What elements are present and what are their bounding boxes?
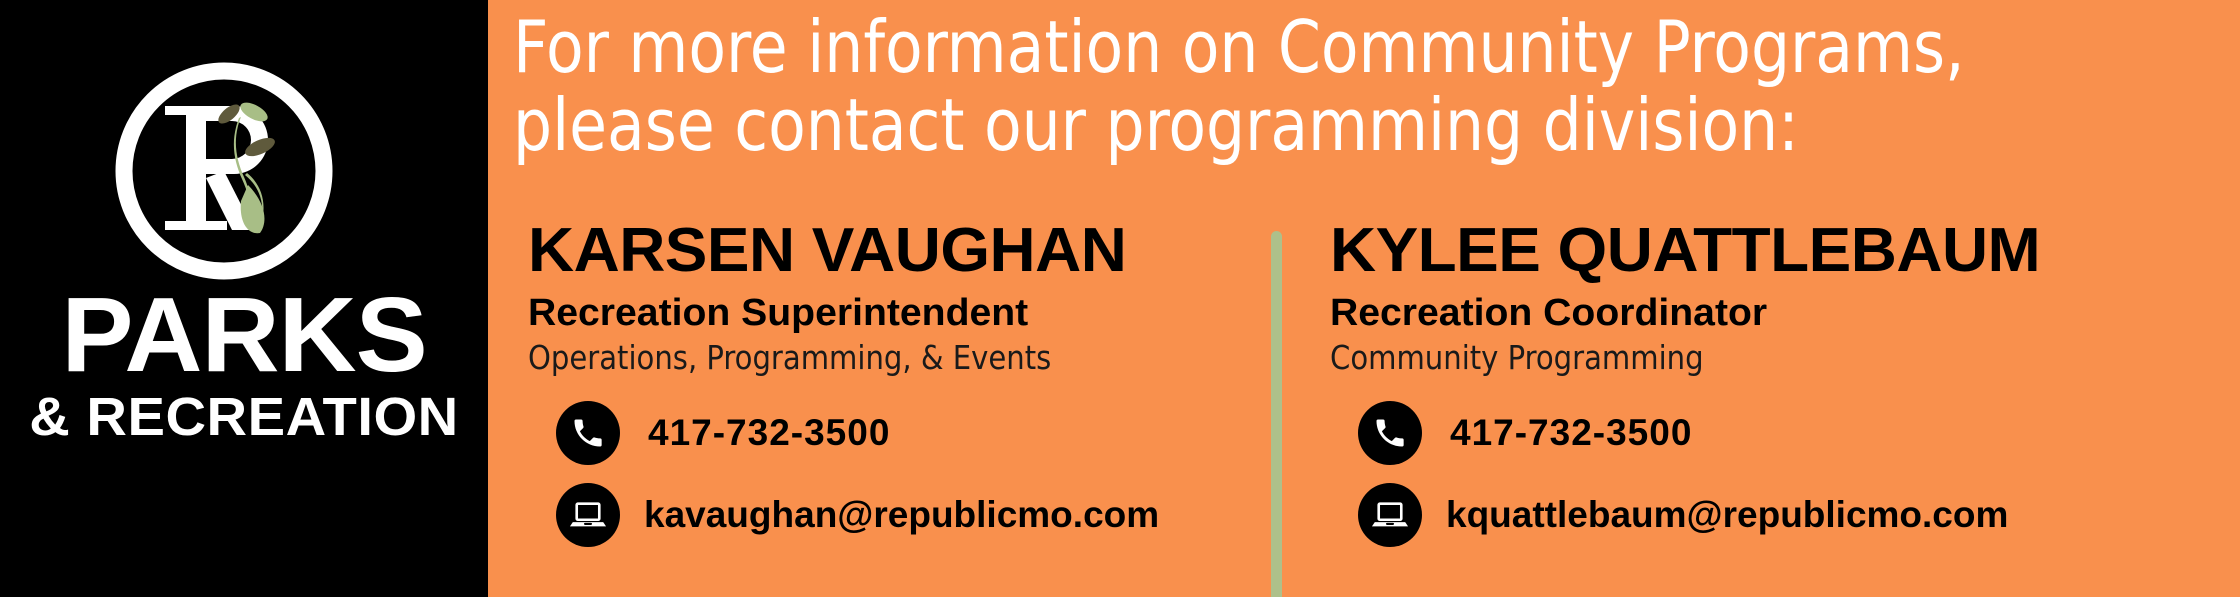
phone-handset-icon xyxy=(1358,401,1422,465)
contact-card-kylee-quattlebaum: KYLEE QUATTLEBAUM Recreation Coordinator… xyxy=(1330,218,2210,547)
laptop-computer-icon xyxy=(556,483,620,547)
contact-phone-number[interactable]: 417-732-3500 xyxy=(1450,413,1692,453)
contact-card-karsen-vaughan: KARSEN VAUGHAN Recreation Superintendent… xyxy=(528,218,1228,547)
headline: For more information on Community Progra… xyxy=(513,8,2213,164)
contact-email-address[interactable]: kquattlebaum@republicmo.com xyxy=(1446,495,2008,535)
contact-department: Operations, Programming, & Events xyxy=(528,337,1214,379)
laptop-computer-icon xyxy=(1358,483,1422,547)
contact-email-address[interactable]: kavaughan@republicmo.com xyxy=(644,495,1159,535)
contact-phone-row[interactable]: 417-732-3500 xyxy=(1358,401,2210,465)
contact-title: Recreation Superintendent xyxy=(528,290,1249,336)
headline-line-2: please contact our programming division: xyxy=(513,86,2128,164)
wordmark-parks: PARKS xyxy=(0,282,493,388)
column-divider xyxy=(1271,231,1282,597)
circle-r-monogram-leaf-logo xyxy=(108,55,340,287)
contact-name: KYLEE QUATTLEBAUM xyxy=(1330,218,2236,284)
contact-email-row[interactable]: kavaughan@republicmo.com xyxy=(556,483,1228,547)
wordmark-recreation: & RECREATION xyxy=(0,390,498,444)
contact-department: Community Programming xyxy=(1330,337,2192,379)
contact-phone-row[interactable]: 417-732-3500 xyxy=(556,401,1228,465)
contact-title: Recreation Coordinator xyxy=(1330,290,2236,336)
headline-line-1: For more information on Community Progra… xyxy=(513,8,2128,86)
phone-handset-icon xyxy=(556,401,620,465)
contact-email-row[interactable]: kquattlebaum@republicmo.com xyxy=(1358,483,2210,547)
logo-panel: PARKS & RECREATION xyxy=(0,0,488,597)
contact-phone-number[interactable]: 417-732-3500 xyxy=(648,413,890,453)
contact-name: KARSEN VAUGHAN xyxy=(528,218,1249,284)
contact-info-banner: PARKS & RECREATION For more information … xyxy=(0,0,2240,597)
